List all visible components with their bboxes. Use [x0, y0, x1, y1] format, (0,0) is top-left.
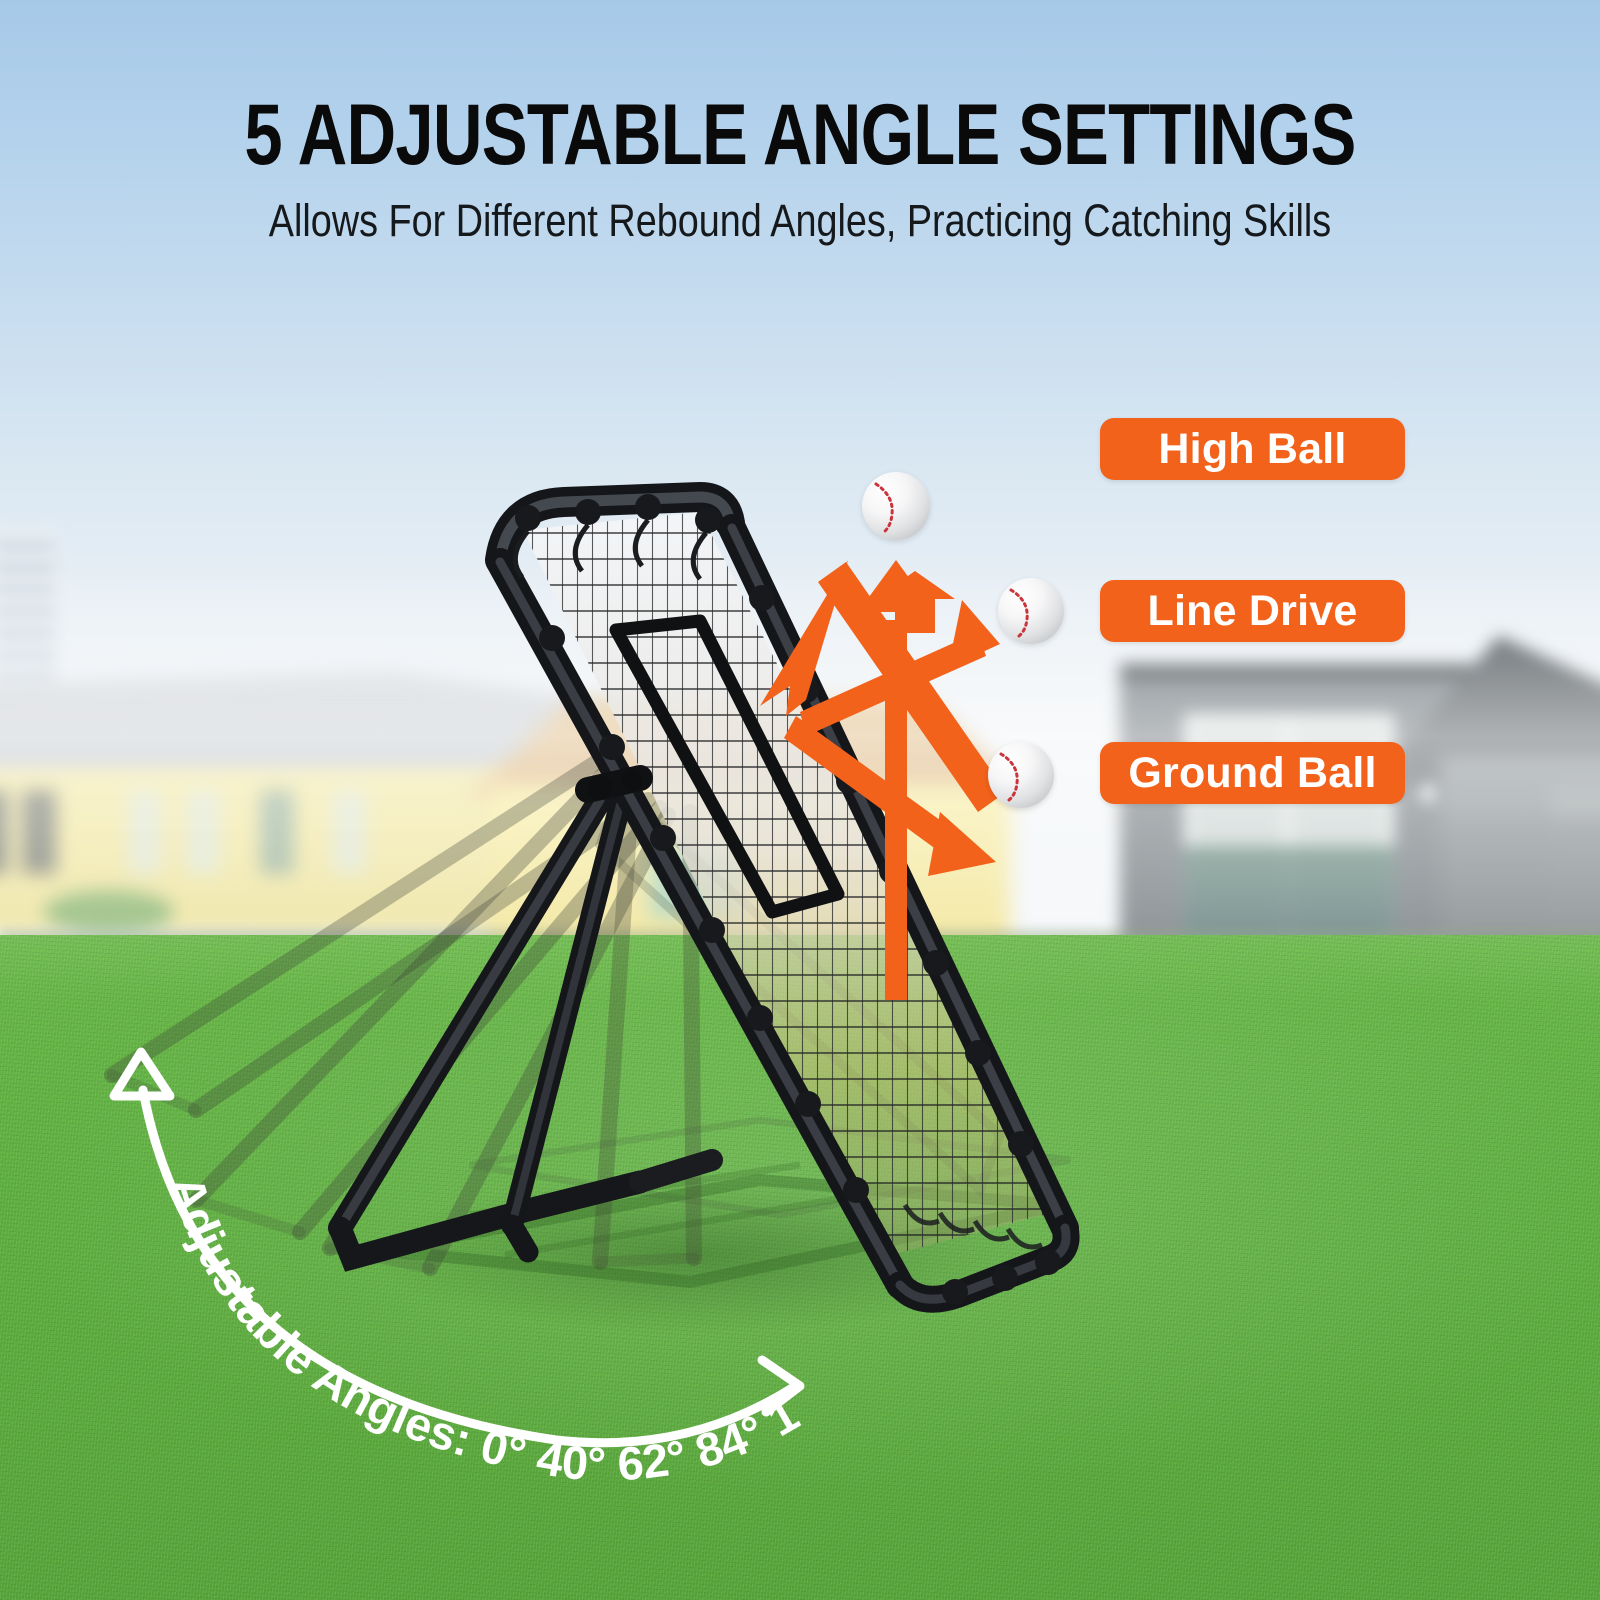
product-marketing-image: Adjustable Angles: 0° 40° 62° 84° 106° 5…	[0, 0, 1600, 1600]
headline: 5 ADJUSTABLE ANGLE SETTINGS	[160, 92, 1440, 178]
badge-ground-ball[interactable]: Ground Ball	[1100, 742, 1405, 804]
subheadline: Allows For Different Rebound Angles, Pra…	[128, 196, 1472, 246]
badge-line-drive[interactable]: Line Drive	[1100, 580, 1405, 642]
baseball-seam-icon	[988, 742, 1054, 808]
grass-field	[0, 935, 1600, 1600]
baseball-line-drive	[998, 578, 1064, 644]
baseball-ground	[988, 742, 1054, 808]
badge-high-ball[interactable]: High Ball	[1100, 418, 1405, 480]
baseball-seam-icon	[862, 472, 930, 540]
baseball-high	[862, 472, 930, 540]
baseball-seam-icon	[998, 578, 1064, 644]
